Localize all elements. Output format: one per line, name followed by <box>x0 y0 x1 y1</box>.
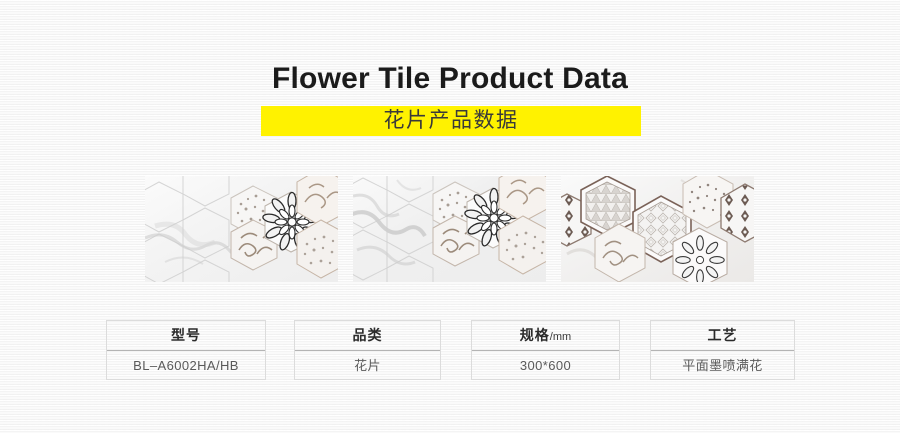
spec-cell-process: 工艺 平面墨喷满花 <box>650 320 795 380</box>
spec-value-size: 300*600 <box>472 351 619 380</box>
page-title-english: Flower Tile Product Data <box>0 60 900 98</box>
tile-photo-3[interactable] <box>561 176 754 282</box>
page-title-chinese: 花片产品数据 <box>261 106 641 136</box>
tile-gallery <box>145 176 755 282</box>
spec-cell-size: 规格/mm 300*600 <box>471 320 620 380</box>
spec-header-size-unit: /mm <box>550 331 571 343</box>
spec-header-category: 品类 <box>295 321 440 351</box>
spec-header-size: 规格/mm <box>472 321 619 351</box>
spec-header-size-label: 规格 <box>520 327 550 343</box>
spec-cell-model: 型号 BL–A6002HA/HB <box>106 320 266 380</box>
tile-photo-1-graphic <box>145 176 338 282</box>
spec-header-process-label: 工艺 <box>708 327 738 343</box>
spec-table: 型号 BL–A6002HA/HB 品类 花片 规格/mm 300*600 工艺 … <box>106 320 795 380</box>
spec-header-model-label: 型号 <box>171 327 201 343</box>
tile-photo-2[interactable] <box>353 176 546 282</box>
spec-header-model: 型号 <box>107 321 265 351</box>
spec-cell-category: 品类 花片 <box>294 320 441 380</box>
spec-value-category: 花片 <box>295 351 440 380</box>
tile-photo-1[interactable] <box>145 176 338 282</box>
spec-value-model: BL–A6002HA/HB <box>107 351 265 380</box>
spec-value-process: 平面墨喷满花 <box>651 351 794 380</box>
spec-header-category-label: 品类 <box>353 327 383 343</box>
tile-photo-2-graphic <box>353 176 546 282</box>
spec-header-process: 工艺 <box>651 321 794 351</box>
tile-photo-3-graphic <box>561 176 754 282</box>
page-content: Flower Tile Product Data 花片产品数据 <box>0 0 900 433</box>
